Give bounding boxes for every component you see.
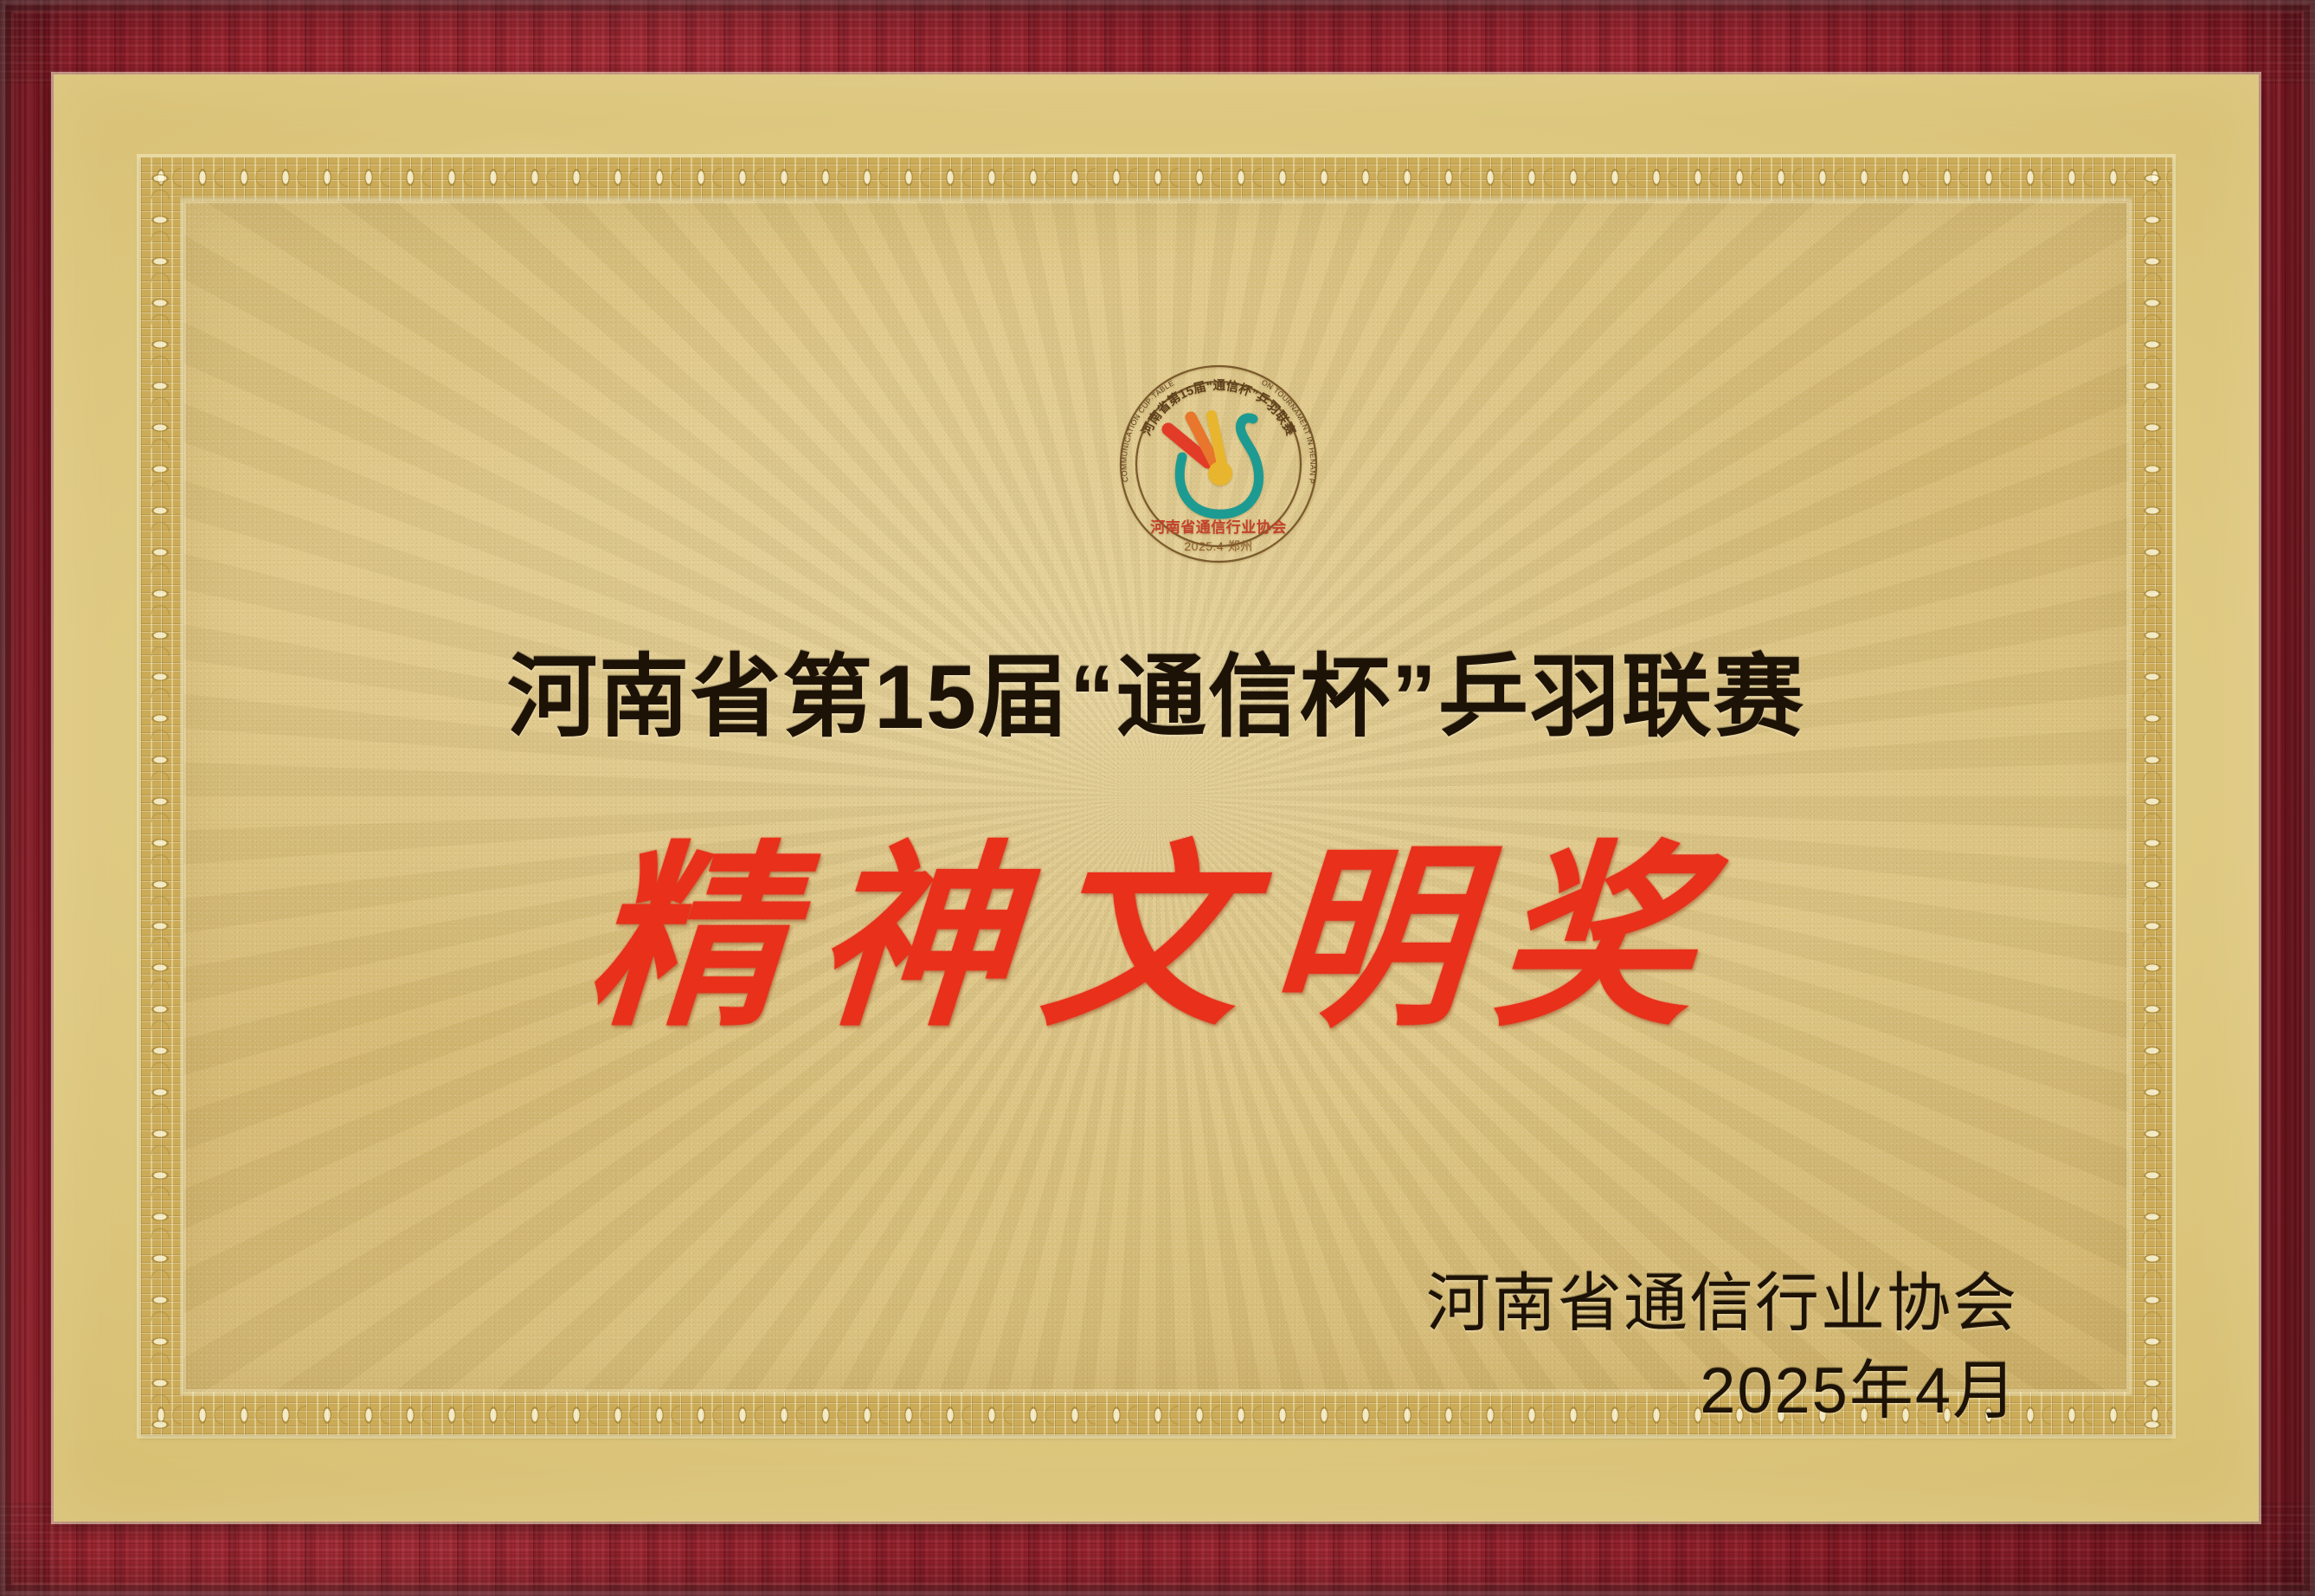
plaque-heading: 河南省第15届“通信杯”乒羽联赛: [54, 647, 2259, 748]
award-title: 精神文明奖: [46, 827, 2267, 1048]
signature-block: 河南省通信行业协会 2025年4月: [1426, 1265, 2018, 1429]
award-plaque: 河南省第15届“通信杯”乒羽联赛 THE 15TH COMMUNICATION …: [0, 0, 2315, 1596]
frame-rail-left: [0, 0, 61, 1596]
emblem-date-text: 2025.4 郑州: [1184, 539, 1252, 553]
frame-rail-right: [2251, 0, 2315, 1596]
gold-plate: 河南省第15届“通信杯”乒羽联赛 THE 15TH COMMUNICATION …: [54, 74, 2259, 1522]
issue-date: 2025年4月: [1426, 1353, 2018, 1428]
plaque-content: 河南省第15届“通信杯”乒羽联赛 THE 15TH COMMUNICATION …: [54, 74, 2259, 1522]
emblem-org-text: 河南省通信行业协会: [1150, 518, 1287, 536]
tournament-emblem: 河南省第15届“通信杯”乒羽联赛 THE 15TH COMMUNICATION …: [1115, 360, 1322, 568]
frame-rail-top: [0, 0, 2315, 83]
issuing-organization: 河南省通信行业协会: [1426, 1265, 2018, 1341]
